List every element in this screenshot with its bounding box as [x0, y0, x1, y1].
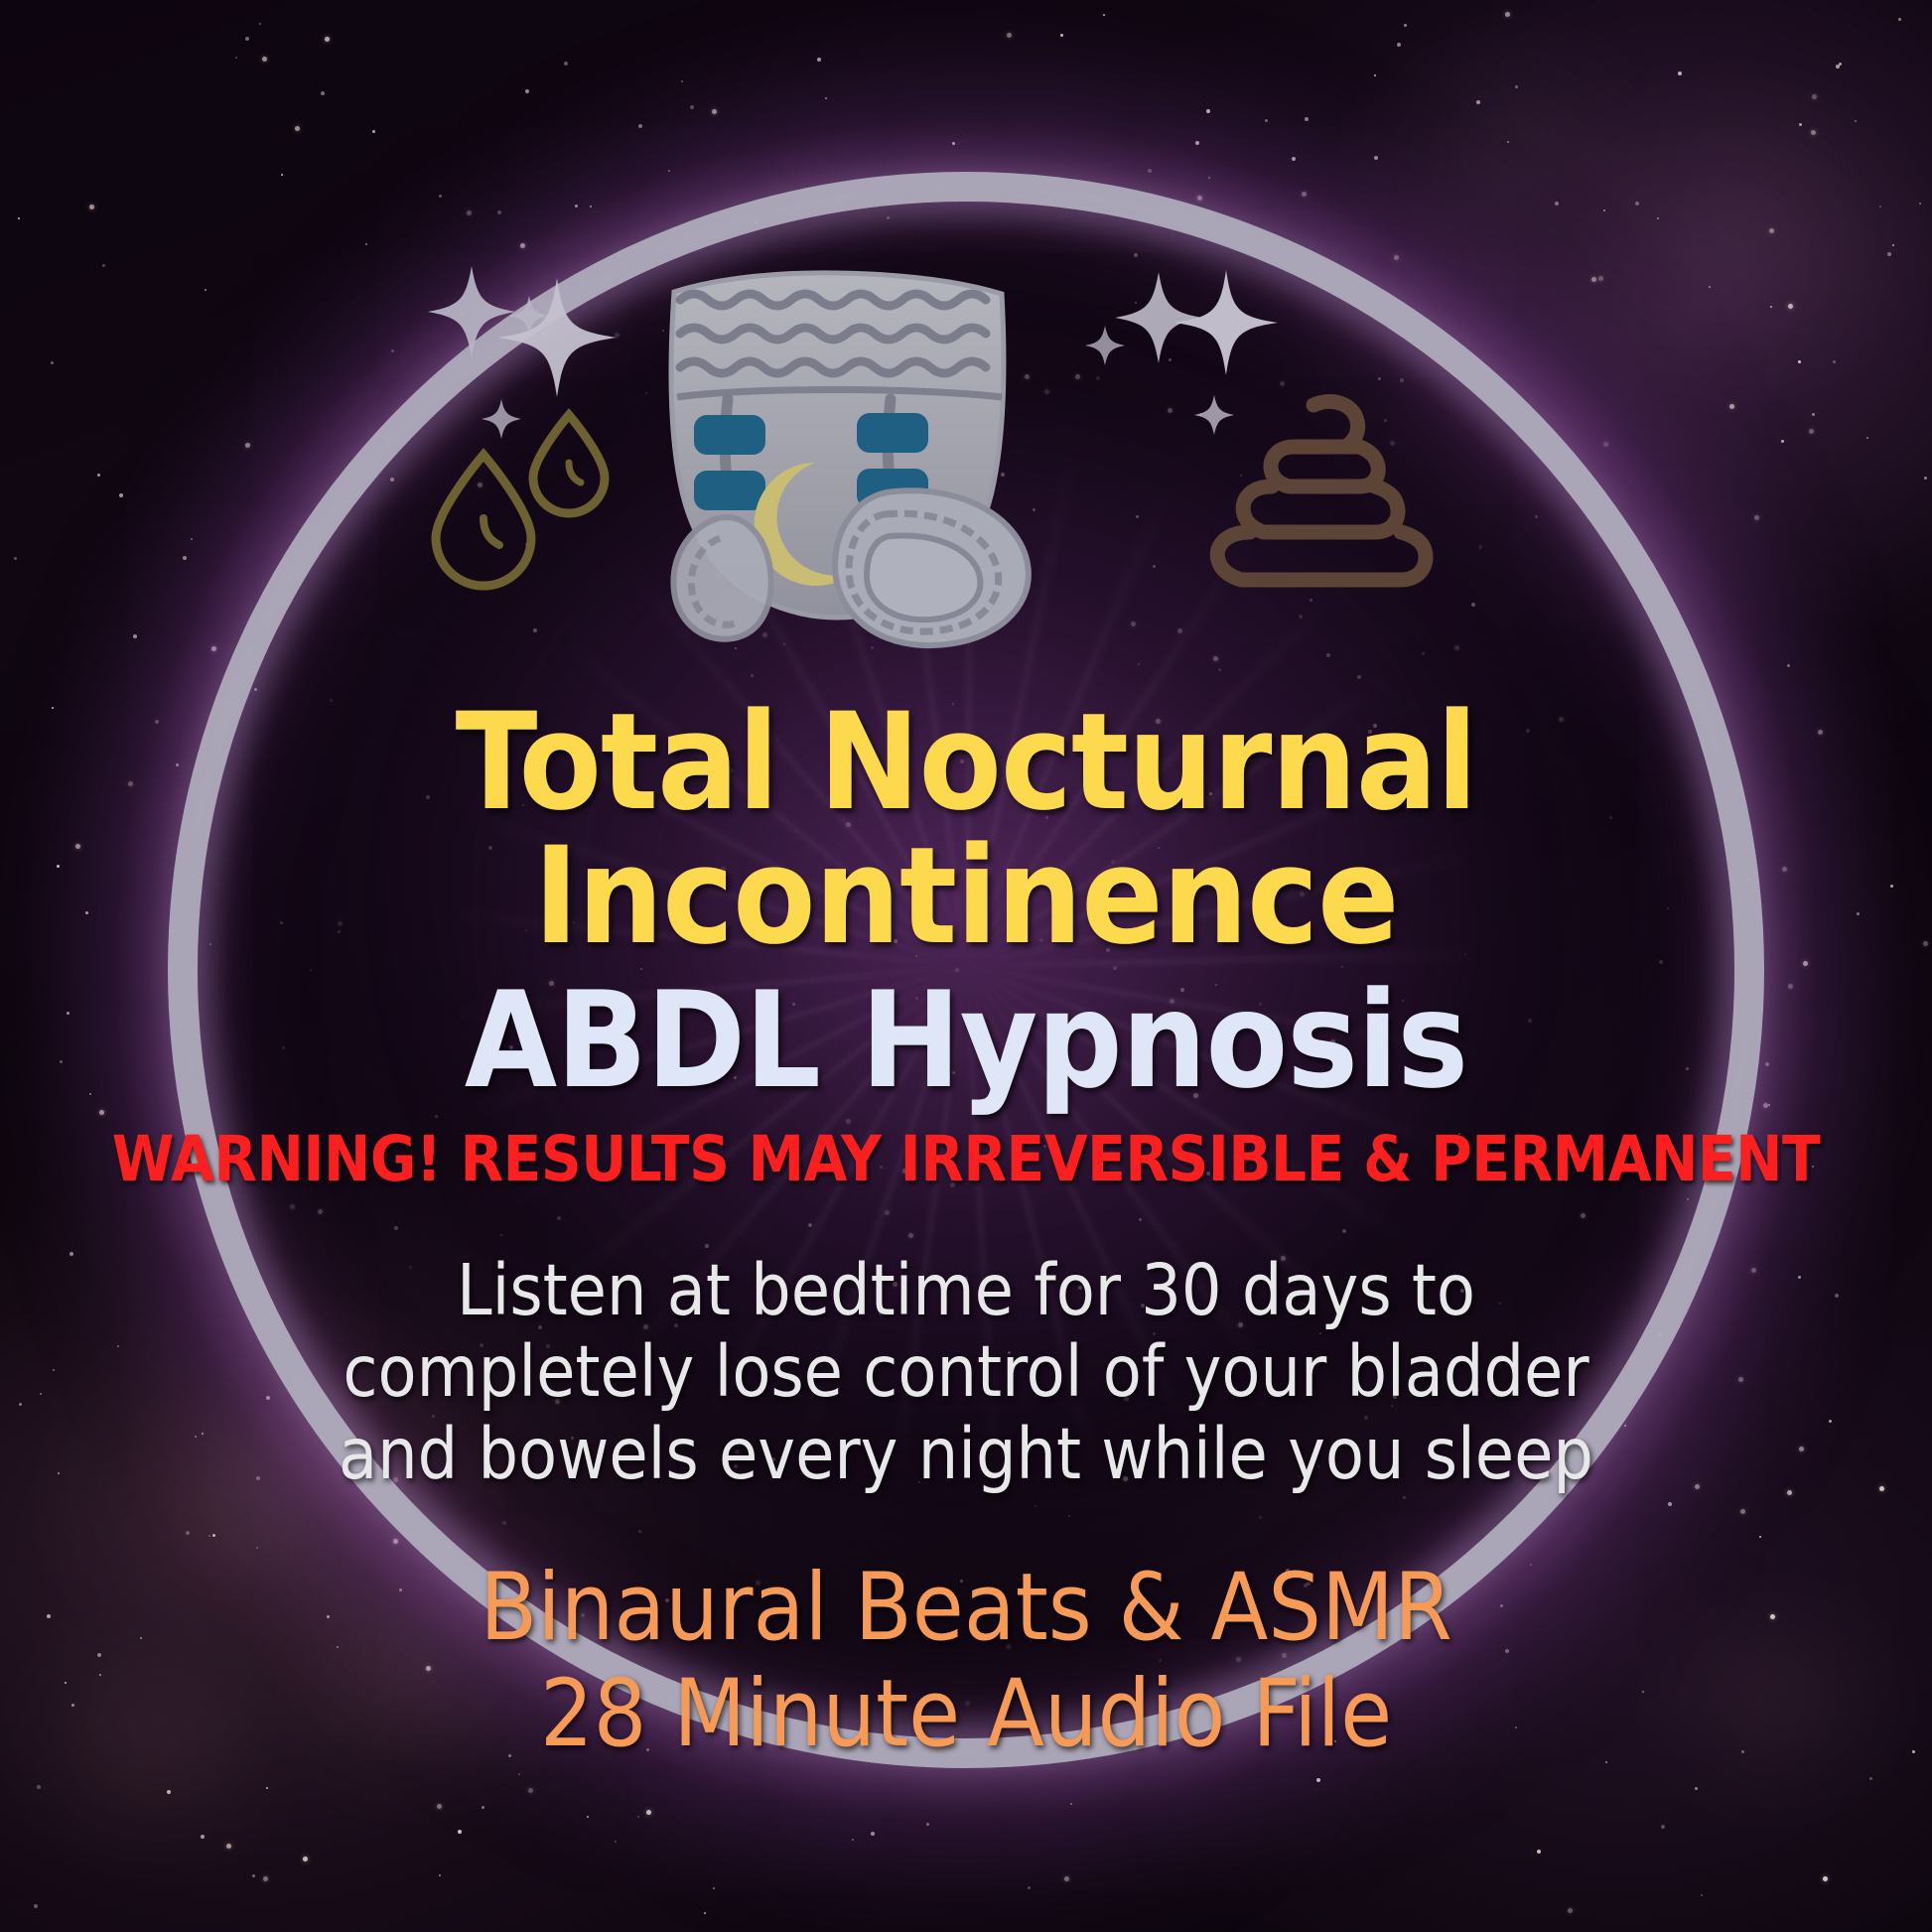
- star-dot: [266, 1787, 268, 1789]
- star-dot: [18, 217, 20, 219]
- sparkle-star-icon: [1085, 270, 1278, 435]
- star-dot: [482, 1806, 484, 1809]
- star-dot: [713, 1887, 715, 1889]
- star-dot: [564, 62, 568, 66]
- star-dot: [518, 1773, 520, 1775]
- star-dot: [1028, 1886, 1031, 1889]
- cta-line: 28 Minute Audio File: [0, 1661, 1932, 1767]
- star-dot: [1397, 43, 1401, 47]
- description-text: Listen at bedtime for 30 days to complet…: [0, 1250, 1932, 1495]
- star-dot: [646, 1810, 651, 1815]
- star-dot: [89, 205, 94, 209]
- star-dot: [235, 57, 237, 59]
- star-dot: [1811, 130, 1816, 135]
- warning-banner: WARNING! RESULTS MAY IRREVERSIBLE & PERM…: [0, 1127, 1932, 1192]
- star-dot: [1898, 18, 1901, 21]
- star-dot: [1919, 203, 1921, 205]
- star-dot: [1812, 94, 1817, 99]
- cta-line: Binaural Beats & ASMR: [0, 1555, 1932, 1661]
- star-dot: [365, 243, 367, 245]
- description-line: and bowels every night while you sleep: [79, 1414, 1853, 1495]
- star-dot: [525, 89, 529, 93]
- star-dot: [1695, 1787, 1698, 1790]
- star-dot: [1892, 244, 1894, 246]
- star-dot: [226, 1844, 231, 1849]
- water-drops-icon: [436, 415, 605, 586]
- star-dot: [1661, 1825, 1665, 1829]
- star-dot: [1292, 157, 1296, 161]
- star-dot: [1507, 141, 1509, 143]
- star-dot: [1476, 100, 1480, 104]
- diaper-leg-ruffle-right: [835, 490, 1029, 645]
- star-dot: [1505, 12, 1510, 17]
- star-dot: [1836, 65, 1840, 69]
- star-dot: [690, 105, 694, 109]
- star-dot: [245, 37, 249, 41]
- star-dot: [528, 1788, 533, 1793]
- star-dot: [1060, 34, 1063, 37]
- star-dot: [439, 1874, 441, 1876]
- star-dot: [825, 97, 827, 99]
- star-dot: [681, 80, 683, 82]
- star-dot: [637, 1816, 639, 1818]
- star-dot: [1678, 71, 1682, 75]
- star-dot: [1823, 1876, 1828, 1881]
- star-dot: [1537, 1850, 1541, 1854]
- page-title: Total Nocturnal Incontinence: [0, 695, 1932, 963]
- star-dot: [439, 195, 442, 198]
- star-dot: [520, 243, 525, 248]
- star-dot: [37, 1785, 41, 1789]
- star-dot: [321, 91, 325, 95]
- star-dot: [871, 1832, 875, 1836]
- star-dot: [252, 1874, 255, 1877]
- star-dot: [1555, 202, 1559, 206]
- star-dot: [1316, 1778, 1320, 1782]
- illustration-group: [0, 248, 1932, 665]
- star-dot: [467, 210, 472, 215]
- star-dot: [1855, 120, 1857, 122]
- star-dot: [201, 1835, 205, 1839]
- star-dot: [704, 1912, 706, 1914]
- star-dot: [1515, 85, 1518, 88]
- description-line: Listen at bedtime for 30 days to: [79, 1250, 1853, 1331]
- star-dot: [458, 1830, 462, 1834]
- star-dot: [497, 210, 501, 214]
- star-dot: [1769, 228, 1774, 233]
- poster-canvas: Total Nocturnal Incontinence ABDL Hypnos…: [0, 0, 1932, 1932]
- cta-text: Binaural Beats & ASMR 28 Minute Audio Fi…: [0, 1555, 1932, 1767]
- poop-icon: [1217, 402, 1426, 580]
- star-dot: [1195, 141, 1199, 145]
- star-dot: [1603, 209, 1605, 211]
- diaper-leg-ruffle-left: [673, 517, 770, 639]
- star-dot: [1869, 1777, 1872, 1780]
- star-dot: [281, 174, 283, 176]
- star-dot: [1568, 1908, 1573, 1913]
- star-dot: [1064, 1876, 1069, 1881]
- star-dot: [325, 37, 330, 42]
- night-diaper-icon: [420, 248, 1512, 665]
- star-dot: [1302, 192, 1307, 197]
- star-dot: [575, 205, 578, 207]
- star-dot: [1701, 1894, 1703, 1896]
- star-dot: [1305, 117, 1309, 121]
- star-dot: [1206, 109, 1210, 113]
- star-dot: [615, 1841, 617, 1843]
- star-dot: [167, 1790, 171, 1794]
- star-dot: [668, 170, 670, 172]
- star-dot: [437, 1804, 442, 1809]
- copy-block: Total Nocturnal Incontinence ABDL Hypnos…: [0, 695, 1932, 1767]
- diaper-graphic: [671, 273, 1029, 645]
- star-dot: [372, 130, 375, 133]
- star-dot: [926, 1823, 929, 1826]
- star-dot: [1070, 1803, 1072, 1805]
- star-dot: [1374, 156, 1378, 160]
- star-dot: [638, 124, 642, 128]
- star-dot: [1265, 119, 1268, 122]
- star-dot: [712, 109, 717, 114]
- star-dot: [34, 1904, 38, 1908]
- star-dot: [262, 57, 267, 62]
- star-dot: [1103, 14, 1105, 16]
- star-dot: [1879, 206, 1881, 207]
- star-dot: [1374, 74, 1376, 76]
- page-subtitle: ABDL Hypnosis: [0, 973, 1932, 1109]
- star-dot: [1635, 202, 1639, 206]
- star-dot: [263, 1876, 268, 1881]
- sparkle-star-icon: [428, 266, 617, 439]
- star-dot: [1799, 123, 1802, 126]
- description-line: completely lose control of your bladder: [79, 1331, 1853, 1413]
- star-dot: [303, 1857, 308, 1862]
- star-dot: [295, 126, 300, 131]
- star-dot: [259, 23, 261, 25]
- star-dot: [1404, 24, 1407, 27]
- star-dot: [1007, 33, 1012, 38]
- star-dot: [587, 1816, 589, 1818]
- star-dot: [1657, 217, 1659, 219]
- star-dot: [852, 1839, 854, 1841]
- star-dot: [590, 206, 592, 207]
- star-dot: [817, 58, 821, 62]
